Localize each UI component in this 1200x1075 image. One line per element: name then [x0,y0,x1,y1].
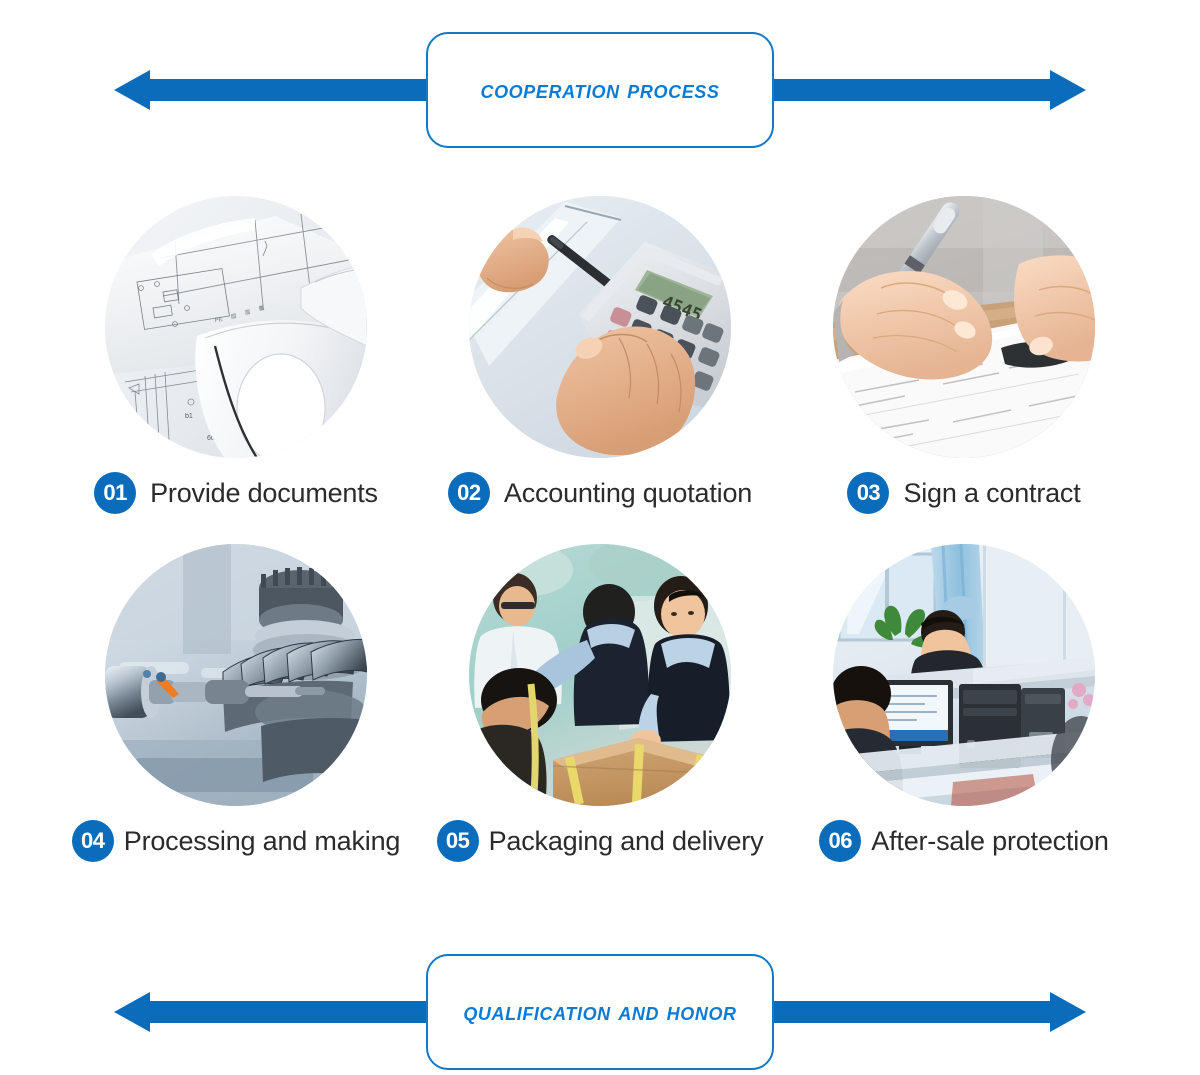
steps-row-1: PE ▤ ▥ ▦ [0,196,1200,514]
step-06-label-group: 06 After-sale protection [769,820,1159,862]
qualification-and-honor-title-box: Qualification and honor [426,954,774,1070]
steps-row-2: 04 Processing and making [0,544,1200,862]
step-02-label-group: 02 Accounting quotation [400,472,800,514]
office-support-photo [833,544,1095,806]
step-04-badge: 04 [72,820,114,862]
step-06-text: After-sale protection [871,826,1108,857]
cooperation-process-banner: Cooperation process [0,30,1200,150]
step-04-label-group: 04 Processing and making [41,820,431,862]
step-04-text: Processing and making [124,826,400,857]
step-06-badge: 06 [819,820,861,862]
blueprint-rolls-photo: PE ▤ ▥ ▦ [105,196,367,458]
step-01[interactable]: PE ▤ ▥ ▦ [100,196,372,514]
arrow-left-icon [114,79,434,101]
cooperation-steps: PE ▤ ▥ ▦ [0,196,1200,862]
arrow-left-icon [114,1001,434,1023]
step-04[interactable]: 04 Processing and making [100,544,372,862]
svg-text:PE: PE [214,317,223,324]
step-02[interactable]: 4545 [464,196,736,514]
step-05-badge: 05 [437,820,479,862]
qualification-and-honor-title: Qualification and honor [463,998,736,1027]
step-03-badge: 03 [847,472,889,514]
step-03-label-group: 03 Sign a contract [764,472,1164,514]
arrow-right-icon [766,79,1086,101]
contract-signing-photo [833,196,1095,458]
step-01-label-group: 01 Provide documents [36,472,436,514]
cooperation-process-title: Cooperation process [480,76,719,105]
step-02-text: Accounting quotation [504,478,752,509]
step-01-text: Provide documents [150,478,378,509]
calculator-hands-photo: 4545 [469,196,731,458]
step-03-text: Sign a contract [903,478,1080,509]
step-05[interactable]: 05 Packaging and delivery [464,544,736,862]
arrow-right-icon [766,1001,1086,1023]
step-05-text: Packaging and delivery [489,826,764,857]
step-02-badge: 02 [448,472,490,514]
cnc-machining-photo [105,544,367,806]
step-01-badge: 01 [94,472,136,514]
svg-text:b1: b1 [185,413,193,420]
step-05-label-group: 05 Packaging and delivery [405,820,795,862]
packaging-workers-photo [469,544,731,806]
step-03[interactable]: 03 Sign a contract [828,196,1100,514]
qualification-and-honor-banner: Qualification and honor [0,952,1200,1072]
cooperation-process-title-box: Cooperation process [426,32,774,148]
step-06[interactable]: 06 After-sale protection [828,544,1100,862]
